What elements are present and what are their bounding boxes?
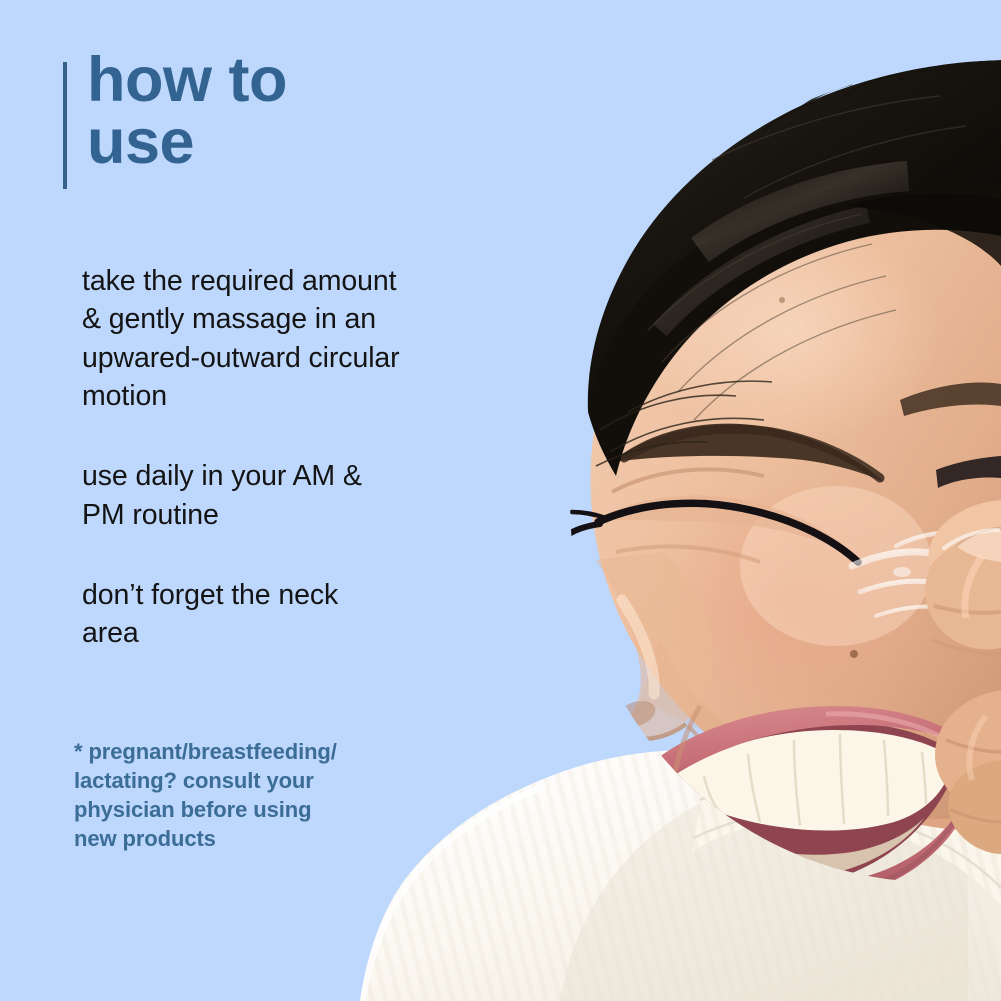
neck — [690, 558, 1001, 831]
instruction-step: take the required amount & gently massag… — [82, 262, 482, 415]
turtleneck — [360, 743, 1001, 1001]
instruction-step: don’t forget the neck area — [82, 576, 482, 653]
heading-accent-rule — [63, 62, 67, 189]
hand-applying-serum — [925, 500, 1001, 854]
face — [566, 86, 1001, 935]
heading-block: how to use — [63, 56, 287, 189]
page-title: how to use — [87, 50, 287, 173]
instruction-step: use daily in your AM & PM routine — [82, 457, 482, 534]
serum-gloss — [852, 533, 968, 617]
how-to-use-card: how to use take the required amount & ge… — [0, 0, 1001, 1001]
instruction-list: take the required amount & gently massag… — [82, 262, 482, 653]
smile — [636, 706, 978, 897]
hair — [588, 60, 1001, 476]
safety-disclaimer: * pregnant/breastfeeding/ lactating? con… — [74, 737, 404, 853]
